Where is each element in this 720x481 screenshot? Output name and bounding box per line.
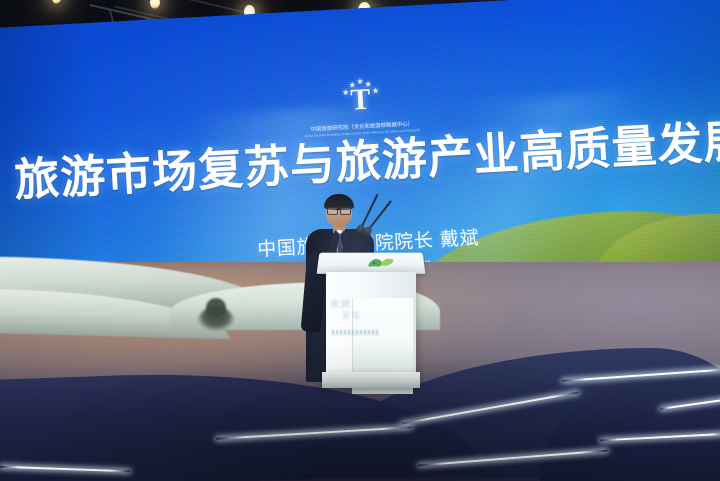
- podium-base: [322, 372, 420, 388]
- podium-small-text: [332, 330, 380, 335]
- podium-calligraphy-line-2: 论坛: [342, 310, 382, 322]
- stage-photo: ★ ★ ★ ★ ★ T 中国旅游研究院（文化和旅游部数据中心） China To…: [0, 0, 720, 481]
- podium-leaf-logo-icon: [366, 256, 396, 269]
- speaker-glasses: [327, 207, 351, 213]
- podium-calligraphy: 余姚 论坛: [330, 298, 382, 326]
- audience-head-silhouette: [206, 298, 226, 318]
- logo-mark: ★ ★ ★ ★ ★ T: [331, 77, 389, 124]
- podium-body: 余姚 论坛: [326, 272, 416, 378]
- logo-letter-t: T: [350, 85, 372, 116]
- podium: 余姚 论坛: [322, 252, 420, 388]
- podium-calligraphy-line-1: 余姚: [330, 298, 382, 310]
- glasses-lens-right: [340, 207, 351, 215]
